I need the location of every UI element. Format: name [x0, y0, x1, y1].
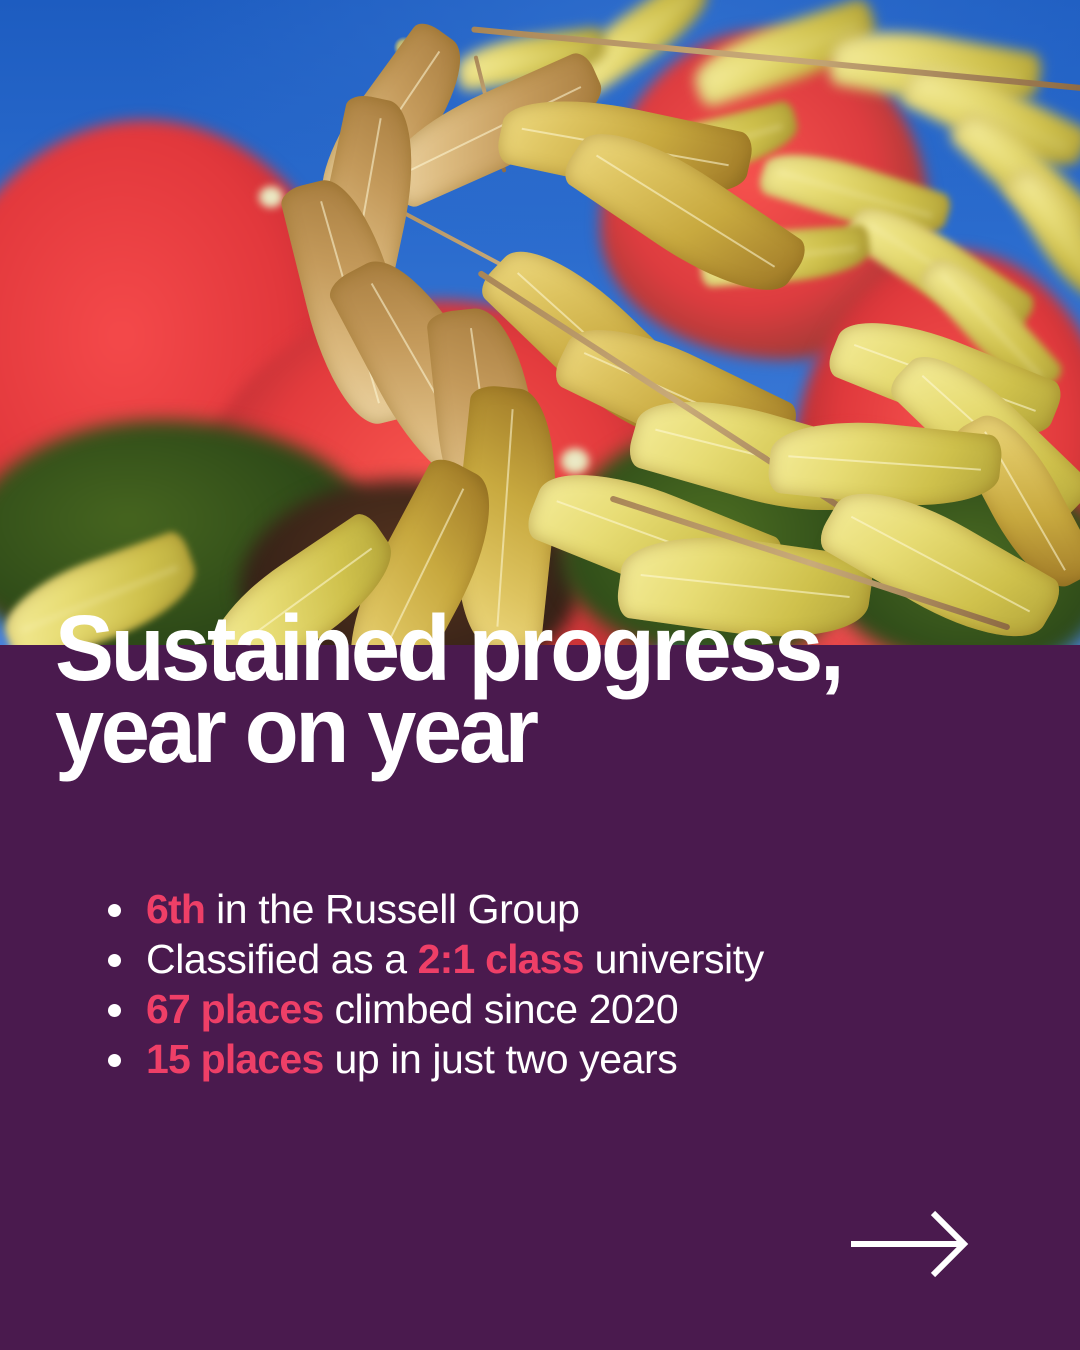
highlight-text: 15 places — [146, 1036, 323, 1082]
list-item-label: Classified as a 2:1 class university — [146, 934, 764, 984]
blossom-cluster — [560, 448, 590, 474]
next-slide-button[interactable] — [845, 1205, 975, 1283]
highlight-text: 2:1 class — [418, 936, 584, 982]
bullet-dot-icon — [108, 1004, 121, 1017]
bullet-dot-icon — [108, 954, 121, 967]
highlight-text: 6th — [146, 886, 205, 932]
social-slide-card: Sustained progress, year on year 6th in … — [0, 0, 1080, 1350]
list-item: 6th in the Russell Group — [108, 884, 1028, 934]
list-item: 15 places up in just two years — [108, 1034, 1028, 1084]
list-item: 67 places climbed since 2020 — [108, 984, 1028, 1034]
bullet-dot-icon — [108, 1054, 121, 1067]
highlight-text: 67 places — [146, 986, 323, 1032]
blossom-cluster — [258, 186, 284, 208]
bullet-dot-icon — [108, 904, 121, 917]
hero-photo — [0, 0, 1080, 650]
plain-text: university — [584, 936, 764, 982]
plain-text: in the Russell Group — [205, 886, 579, 932]
list-item: Classified as a 2:1 class university — [108, 934, 1028, 984]
page-title: Sustained progress, year on year — [55, 608, 1005, 772]
stats-bullet-list: 6th in the Russell Group Classified as a… — [108, 884, 1028, 1084]
list-item-label: 67 places climbed since 2020 — [146, 984, 678, 1034]
plain-text: Classified as a — [146, 936, 418, 982]
list-item-label: 15 places up in just two years — [146, 1034, 677, 1084]
plain-text: climbed since 2020 — [323, 986, 678, 1032]
plain-text: up in just two years — [323, 1036, 677, 1082]
list-item-label: 6th in the Russell Group — [146, 884, 580, 934]
arrow-right-icon[interactable] — [845, 1205, 975, 1283]
